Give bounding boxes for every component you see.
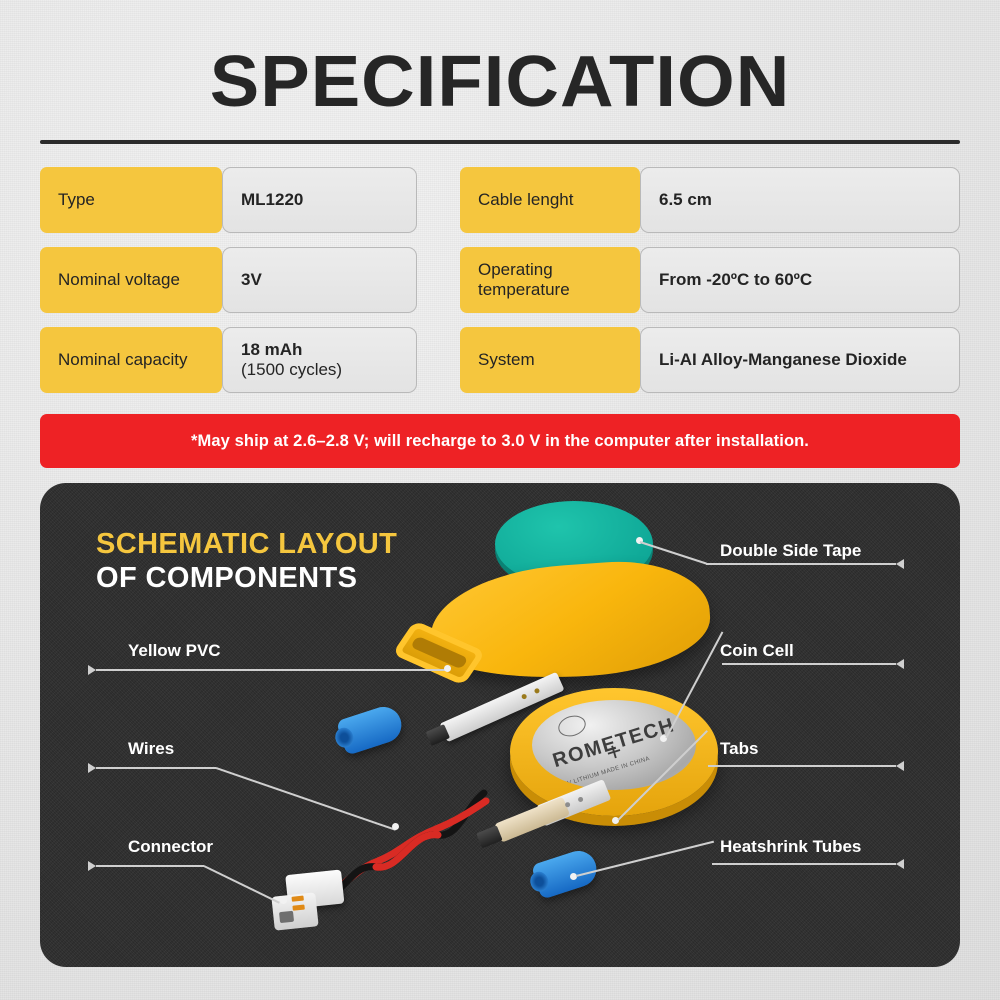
callout-line-tabs — [708, 765, 896, 767]
spec-value-nominal-voltage: 3V — [222, 247, 417, 313]
callout-label-coin-cell: Coin Cell — [720, 641, 794, 661]
coin-cell-face: ROMETECH + 3V LITHIUM MADE IN CHINA — [532, 700, 696, 790]
column-spacer — [417, 247, 460, 313]
callout-line-heatshrink-diagonal — [576, 841, 714, 877]
callout-line-connector — [96, 865, 204, 867]
callout-arrow-tabs — [896, 761, 904, 771]
callout-arrow-heatshrink-tubes — [896, 859, 904, 869]
callout-label-wires: Wires — [128, 739, 174, 759]
column-spacer — [417, 327, 460, 393]
callout-label-tabs: Tabs — [720, 739, 758, 759]
callout-arrow-coin-cell — [896, 659, 904, 669]
spec-value-capacity-main: 18 mAh — [241, 340, 342, 360]
callout-arrow-double-side-tape — [896, 559, 904, 569]
spec-value-type-main: ML1220 — [241, 190, 303, 210]
callout-arrow-yellow-pvc — [88, 665, 96, 675]
column-spacer — [417, 167, 460, 233]
callout-dot-wires — [392, 823, 399, 830]
spec-value-cable-length: 6.5 cm — [640, 167, 960, 233]
callout-label-heatshrink-tubes: Heatshrink Tubes — [720, 837, 861, 857]
connector-slot — [279, 911, 294, 923]
tab-tip — [426, 724, 450, 746]
spec-value-nominal-voltage-main: 3V — [241, 270, 262, 290]
callout-line-coin-cell — [722, 663, 896, 665]
schematic-title: SCHEMATIC LAYOUT OF COMPONENTS — [96, 527, 397, 595]
schematic-title-line1: SCHEMATIC LAYOUT — [96, 527, 397, 561]
spec-label-cable-length: Cable lenght — [460, 167, 640, 233]
specification-table: Type ML1220 Cable lenght 6.5 cm Nominal … — [40, 167, 960, 393]
callout-label-connector: Connector — [128, 837, 213, 857]
specification-page: SPECIFICATION Type ML1220 Cable lenght 6… — [0, 0, 1000, 1000]
spec-label-system: System — [460, 327, 640, 393]
page-title: SPECIFICATION — [0, 46, 1000, 118]
spec-value-nominal-capacity: 18 mAh (1500 cycles) — [222, 327, 417, 393]
callout-dot-yellow-pvc — [444, 665, 451, 672]
title-divider — [40, 140, 960, 144]
spec-value-operating-temperature: From -20ºC to 60ºC — [640, 247, 960, 313]
callout-arrow-wires — [88, 763, 96, 773]
schematic-panel: SCHEMATIC LAYOUT OF COMPONENTS ROMETECH … — [40, 483, 960, 967]
callout-arrow-connector — [88, 861, 96, 871]
callout-label-yellow-pvc: Yellow PVC — [128, 641, 221, 661]
spec-value-system: Li-AI Alloy-Manganese Dioxide — [640, 327, 960, 393]
callout-line-connector-diagonal — [204, 865, 280, 903]
callout-line-double-side-tape — [706, 563, 896, 565]
spec-label-type: Type — [40, 167, 222, 233]
callout-label-double-side-tape: Double Side Tape — [720, 541, 861, 561]
spec-value-capacity-cycles: (1500 cycles) — [241, 360, 342, 380]
spec-value-type: ML1220 — [222, 167, 417, 233]
callout-line-wires — [96, 767, 216, 769]
coin-cell-logo-mark — [556, 713, 589, 740]
callout-dot-connector — [280, 897, 287, 904]
callout-line-yellow-pvc — [96, 669, 446, 671]
spec-label-nominal-voltage: Nominal voltage — [40, 247, 222, 313]
schematic-title-line2: OF COMPONENTS — [96, 561, 397, 595]
callout-line-heatshrink-tubes — [712, 863, 896, 865]
spec-label-operating-temperature: Operating temperature — [460, 247, 640, 313]
spec-label-nominal-capacity: Nominal capacity — [40, 327, 222, 393]
shipping-voltage-notice: *May ship at 2.6–2.8 V; will recharge to… — [40, 414, 960, 468]
